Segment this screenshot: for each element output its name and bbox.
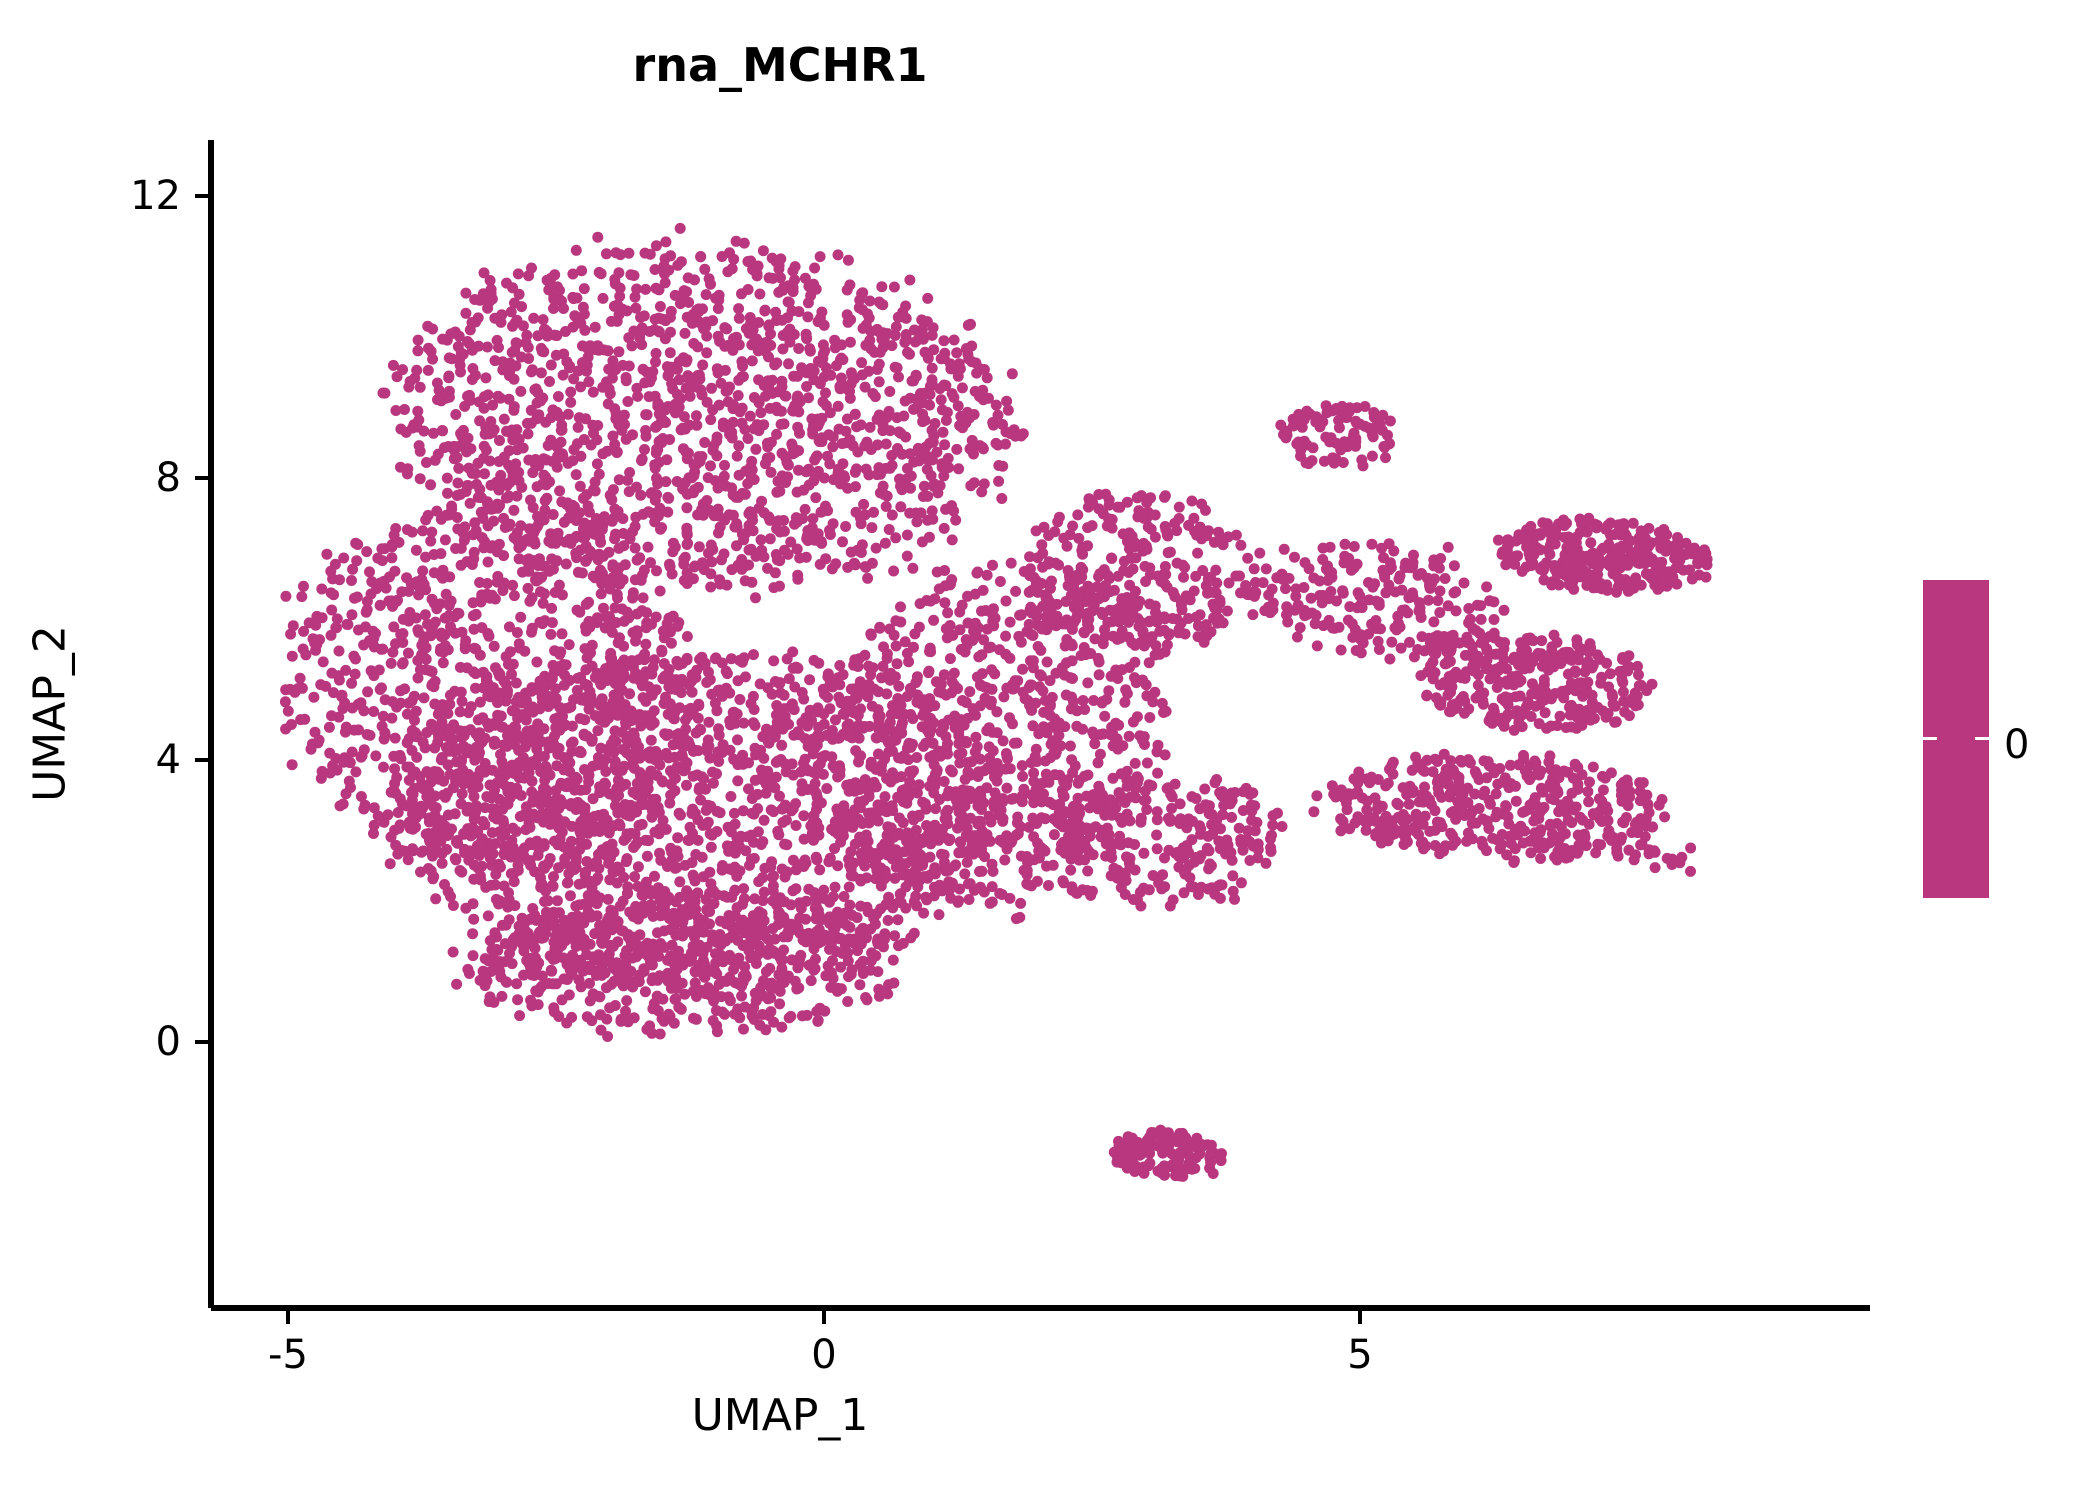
scatter-point	[411, 706, 422, 717]
scatter-point	[621, 856, 632, 867]
scatter-point	[871, 732, 882, 743]
scatter-point	[960, 647, 971, 658]
scatter-point	[350, 766, 361, 777]
scatter-point	[484, 955, 495, 966]
scatter-point	[992, 776, 1003, 787]
scatter-point	[285, 629, 296, 640]
scatter-point	[308, 692, 319, 703]
scatter-point	[602, 1031, 613, 1042]
scatter-point	[523, 455, 534, 466]
scatter-point	[855, 419, 866, 430]
scatter-point	[559, 670, 570, 681]
scatter-point	[573, 422, 584, 433]
scatter-point	[607, 373, 618, 384]
scatter-point	[789, 400, 800, 411]
scatter-point	[504, 948, 515, 959]
scatter-point	[939, 523, 950, 534]
scatter-point	[511, 760, 522, 771]
scatter-point	[353, 724, 364, 735]
scatter-point	[436, 815, 447, 826]
scatter-point	[600, 622, 611, 633]
scatter-point	[824, 703, 835, 714]
scatter-point	[850, 559, 861, 570]
scatter-point	[736, 356, 747, 367]
scatter-point	[640, 696, 651, 707]
scatter-point	[452, 523, 463, 534]
scatter-point	[539, 505, 550, 516]
scatter-point	[649, 827, 660, 838]
scatter-point	[647, 806, 658, 817]
scatter-point	[566, 738, 577, 749]
scatter-point	[676, 674, 687, 685]
scatter-point	[316, 773, 327, 784]
scatter-point	[805, 290, 816, 301]
scatter-point	[777, 381, 788, 392]
scatter-point	[356, 697, 367, 708]
scatter-point	[559, 680, 570, 691]
scatter-point	[816, 507, 827, 518]
scatter-point	[387, 601, 398, 612]
scatter-point	[613, 660, 624, 671]
scatter-point	[612, 593, 623, 604]
scatter-point	[713, 510, 724, 521]
scatter-point	[571, 852, 582, 863]
scatter-point	[517, 567, 528, 578]
scatter-point	[758, 245, 769, 256]
scatter-point	[474, 396, 485, 407]
scatter-point	[651, 684, 662, 695]
scatter-point	[706, 689, 717, 700]
scatter-point	[696, 504, 707, 515]
scatter-point	[928, 437, 939, 448]
scatter-point	[518, 844, 529, 855]
scatter-point	[763, 993, 774, 1004]
scatter-point	[518, 970, 529, 981]
scatter-point	[443, 441, 454, 452]
scatter-point	[902, 827, 913, 838]
scatter-point	[821, 783, 832, 794]
scatter-point	[396, 586, 407, 597]
scatter-point	[659, 925, 670, 936]
scatter-point	[704, 273, 715, 284]
scatter-point	[751, 950, 762, 961]
scatter-point	[874, 716, 885, 727]
scatter-point	[910, 891, 921, 902]
scatter-point	[761, 788, 772, 799]
scatter-point	[738, 975, 749, 986]
scatter-point	[443, 598, 454, 609]
scatter-point	[533, 791, 544, 802]
scatter-point	[613, 637, 624, 648]
scatter-point	[560, 763, 571, 774]
scatter-point	[639, 310, 650, 321]
scatter-point	[1119, 697, 1130, 708]
scatter-point	[390, 405, 401, 416]
scatter-point	[362, 596, 373, 607]
scatter-point	[764, 774, 775, 785]
scatter-point	[957, 382, 968, 393]
scatter-point	[603, 858, 614, 869]
scatter-point	[536, 878, 547, 889]
scatter-point	[431, 802, 442, 813]
scatter-point	[485, 419, 496, 430]
scatter-point	[623, 248, 634, 259]
scatter-point	[563, 703, 574, 714]
scatter-point	[917, 710, 928, 721]
scatter-point	[402, 468, 413, 479]
scatter-point	[874, 850, 885, 861]
scatter-point	[729, 1009, 740, 1020]
scatter-point	[779, 526, 790, 537]
scatter-point	[908, 404, 919, 415]
scatter-point	[667, 569, 678, 580]
scatter-point	[760, 305, 771, 316]
scatter-point	[324, 748, 335, 759]
scatter-point	[388, 621, 399, 632]
scatter-point	[783, 358, 794, 369]
scatter-point	[598, 709, 609, 720]
scatter-point	[564, 362, 575, 373]
scatter-point	[828, 930, 839, 941]
scatter-point	[728, 399, 739, 410]
scatter-point	[848, 871, 859, 882]
scatter-point	[1153, 740, 1164, 751]
scatter-point	[699, 264, 710, 275]
scatter-point	[486, 944, 497, 955]
scatter-point	[745, 312, 756, 323]
scatter-point	[590, 572, 601, 583]
scatter-point	[388, 785, 399, 796]
scatter-point	[421, 642, 432, 653]
scatter-point	[407, 795, 418, 806]
scatter-point	[757, 836, 768, 847]
scatter-point	[722, 668, 733, 679]
scatter-point	[560, 781, 571, 792]
scatter-point	[545, 278, 556, 289]
scatter-point	[939, 776, 950, 787]
scatter-point	[864, 296, 875, 307]
scatter-point	[560, 326, 571, 337]
scatter-point	[426, 771, 437, 782]
scatter-point	[377, 555, 388, 566]
scatter-point	[648, 911, 659, 922]
scatter-point	[887, 853, 898, 864]
scatter-point	[650, 391, 661, 402]
scatter-point	[825, 370, 836, 381]
scatter-point	[718, 739, 729, 750]
scatter-point	[403, 382, 414, 393]
scatter-point	[358, 640, 369, 651]
scatter-point	[706, 842, 717, 853]
scatter-point	[479, 468, 490, 479]
scatter-point	[681, 780, 692, 791]
scatter-point	[521, 337, 532, 348]
scatter-point	[871, 543, 882, 554]
scatter-point	[533, 958, 544, 969]
scatter-point	[1149, 687, 1160, 698]
scatter-point	[873, 704, 884, 715]
scatter-point	[872, 469, 883, 480]
scatter-point	[386, 658, 397, 669]
scatter-point	[452, 478, 463, 489]
scatter-point	[413, 335, 424, 346]
scatter-point	[408, 845, 419, 856]
scatter-point	[898, 868, 909, 879]
scatter-point	[816, 307, 827, 318]
scatter-point	[378, 711, 389, 722]
scatter-point	[773, 264, 784, 275]
scatter-point	[632, 778, 643, 789]
scatter-point	[843, 971, 854, 982]
scatter-point	[756, 545, 767, 556]
scatter-point	[951, 347, 962, 358]
scatter-point	[874, 359, 885, 370]
scatter-point	[514, 772, 525, 783]
scatter-point	[677, 931, 688, 942]
scatter-point	[538, 723, 549, 734]
scatter-point	[577, 568, 588, 579]
scatter-point	[938, 427, 949, 438]
scatter-point	[460, 308, 471, 319]
scatter-point	[766, 467, 777, 478]
scatter-point	[361, 607, 372, 618]
scatter-point	[740, 424, 751, 435]
scatter-point	[609, 847, 620, 858]
scatter-point	[641, 1024, 652, 1035]
scatter-point	[560, 817, 571, 828]
scatter-point	[493, 899, 504, 910]
scatter-point	[714, 730, 725, 741]
scatter-point	[453, 341, 464, 352]
scatter-point	[533, 460, 544, 471]
scatter-point	[872, 324, 883, 335]
scatter-point	[998, 813, 1009, 824]
scatter-point	[482, 499, 493, 510]
scatter-point	[450, 543, 461, 554]
scatter-point	[503, 887, 514, 898]
scatter-point	[455, 706, 466, 717]
scatter-point	[802, 1010, 813, 1021]
scatter-point	[450, 854, 461, 865]
scatter-point	[552, 451, 563, 462]
scatter-point	[483, 520, 494, 531]
scatter-point	[692, 341, 703, 352]
scatter-point	[469, 547, 480, 558]
scatter-point	[672, 260, 683, 271]
scatter-point	[418, 737, 429, 748]
scatter-point	[368, 706, 379, 717]
scatter-point	[538, 314, 549, 325]
scatter-point	[421, 654, 432, 665]
scatter-point	[298, 626, 309, 637]
scatter-point	[545, 629, 556, 640]
scatter-point	[749, 853, 760, 864]
scatter-point	[459, 773, 470, 784]
scatter-point	[877, 805, 888, 816]
scatter-point	[453, 463, 464, 474]
scatter-point	[607, 697, 618, 708]
scatter-point	[460, 288, 471, 299]
scatter-point	[677, 917, 688, 928]
scatter-point	[762, 438, 773, 449]
scatter-point	[739, 1002, 750, 1013]
scatter-point	[672, 983, 683, 994]
scatter-point	[592, 458, 603, 469]
scatter-point	[327, 760, 338, 771]
scatter-point	[349, 593, 360, 604]
scatter-point	[734, 470, 745, 481]
scatter-point	[840, 521, 851, 532]
scatter-point	[598, 551, 609, 562]
scatter-point	[439, 879, 450, 890]
scatter-point	[436, 754, 447, 765]
scatter-point	[575, 817, 586, 828]
scatter-point	[625, 800, 636, 811]
scatter-point	[477, 712, 488, 723]
scatter-point	[459, 401, 470, 412]
scatter-point	[925, 852, 936, 863]
scatter-point	[774, 581, 785, 592]
scatter-point	[728, 754, 739, 765]
scatter-point	[776, 419, 787, 430]
scatter-point	[314, 735, 325, 746]
scatter-point	[546, 603, 557, 614]
scatter-point	[597, 844, 608, 855]
scatter-point	[565, 387, 576, 398]
scatter-point	[688, 870, 699, 881]
scatter-point	[640, 639, 651, 650]
scatter-point	[432, 394, 443, 405]
scatter-point	[736, 991, 747, 1002]
scatter-point	[480, 980, 491, 991]
scatter-point	[736, 288, 747, 299]
scatter-point	[882, 648, 893, 659]
scatter-point	[772, 554, 783, 565]
scatter-point	[680, 328, 691, 339]
scatter-point	[553, 862, 564, 873]
scatter-point	[701, 347, 712, 358]
scatter-point	[701, 677, 712, 688]
scatter-point	[748, 649, 759, 660]
scatter-point	[523, 583, 534, 594]
scatter-point	[362, 686, 373, 697]
scatter-point	[514, 1010, 525, 1021]
scatter-point	[442, 488, 453, 499]
scatter-point	[807, 817, 818, 828]
scatter-point	[747, 808, 758, 819]
scatter-point	[318, 656, 329, 667]
scatter-point	[617, 685, 628, 696]
scatter-point	[280, 591, 291, 602]
scatter-point	[727, 263, 738, 274]
scatter-point	[287, 759, 298, 770]
scatter-point	[655, 301, 666, 312]
scatter-point	[650, 422, 661, 433]
scatter-point	[870, 919, 881, 930]
scatter-point	[688, 470, 699, 481]
scatter-point	[469, 624, 480, 635]
scatter-point	[538, 470, 549, 481]
scatter-point	[661, 454, 672, 465]
scatter-point	[892, 914, 903, 925]
scatter-point	[745, 411, 756, 422]
scatter-point	[591, 856, 602, 867]
scatter-point	[900, 903, 911, 914]
scatter-point	[656, 645, 667, 656]
scatter-point	[624, 361, 635, 372]
scatter-point	[525, 495, 536, 506]
scatter-point	[841, 437, 852, 448]
scatter-point	[792, 663, 803, 674]
scatter-point	[790, 261, 801, 272]
scatter-point	[695, 926, 706, 937]
scatter-point	[634, 675, 645, 686]
scatter-point	[614, 309, 625, 320]
scatter-point	[816, 538, 827, 549]
scatter-point	[551, 978, 562, 989]
scatter-point	[884, 386, 895, 397]
scatter-point	[467, 928, 478, 939]
scatter-point	[531, 657, 542, 668]
scatter-point	[415, 382, 426, 393]
scatter-point	[612, 807, 623, 818]
scatter-point	[570, 936, 581, 947]
scatter-point	[640, 248, 651, 259]
scatter-point	[811, 927, 822, 938]
scatter-point	[548, 303, 559, 314]
scatter-point	[703, 548, 714, 559]
scatter-point	[987, 560, 998, 571]
scatter-point	[655, 524, 666, 535]
scatter-point	[986, 696, 997, 707]
scatter-point	[346, 575, 357, 586]
scatter-point	[782, 312, 793, 323]
scatter-point	[663, 1009, 674, 1020]
scatter-point	[693, 482, 704, 493]
scatter-point	[947, 766, 958, 777]
scatter-point	[812, 913, 823, 924]
scatter-point	[535, 586, 546, 597]
scatter-point	[806, 959, 817, 970]
scatter-point	[796, 903, 807, 914]
scatter-point	[918, 741, 929, 752]
scatter-point	[716, 378, 727, 389]
scatter-point	[1042, 657, 1053, 668]
scatter-point	[639, 444, 650, 455]
scatter-point	[815, 559, 826, 570]
scatter-point	[438, 657, 449, 668]
scatter-point	[549, 645, 560, 656]
scatter-point	[733, 440, 744, 451]
scatter-point	[574, 412, 585, 423]
scatter-point	[444, 392, 455, 403]
scatter-point	[880, 538, 891, 549]
scatter-point	[587, 640, 598, 651]
scatter-point	[625, 706, 636, 717]
scatter-point	[440, 534, 451, 545]
scatter-point	[704, 753, 715, 764]
scatter-point	[939, 849, 950, 860]
scatter-point	[897, 312, 908, 323]
scatter-point	[651, 473, 662, 484]
scatter-point	[564, 989, 575, 1000]
scatter-point	[611, 957, 622, 968]
scatter-point	[504, 730, 515, 741]
scatter-point	[663, 892, 674, 903]
scatter-point	[485, 991, 496, 1002]
scatter-point	[338, 799, 349, 810]
scatter-point	[809, 455, 820, 466]
